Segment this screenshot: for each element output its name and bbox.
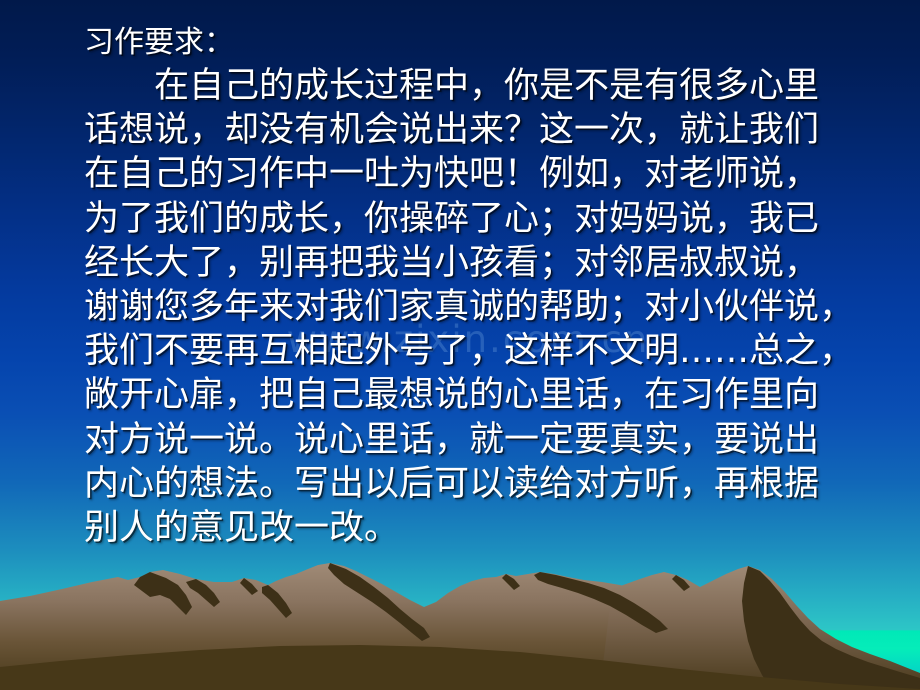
- body-line: 别人的意见改一改。: [84, 506, 868, 550]
- slide-text-content: 习作要求： 在自己的成长过程中，你是不是有很多心里 话想说，却没有机会说出来？这…: [84, 22, 868, 550]
- body-line: 敞开心扉，把自己最想说的心里话，在习作里向: [84, 373, 868, 417]
- mountain-shadow-9: [742, 566, 920, 690]
- body-line: 为了我们的成长，你操碎了心；对妈妈说，我已: [84, 197, 868, 241]
- body-line: 我们不要再互相起外号了，这样不文明……总之，: [84, 329, 868, 373]
- body-line: 话想说，却没有机会说出来？这一次，就让我们: [84, 108, 868, 152]
- body-line: 在自己的习作中一吐为快吧！例如，对老师说，: [84, 152, 868, 196]
- body-line: 经长大了，别再把我当小孩看；对邻居叔叔说，: [84, 241, 868, 285]
- mountain-silhouette-graphic: [0, 555, 920, 690]
- body-line: 谢谢您多年来对我们家真诚的帮助；对小伙伴说，: [84, 285, 868, 329]
- presentation-slide: www.zixin.com.cn 习作要求： 在自己的成长过程中，你是不是有很多…: [0, 0, 920, 690]
- body-line: 内心的想法。写出以后可以读给对方听，再根据: [84, 462, 868, 506]
- body-line: 对方说一说。说心里话，就一定要真实，要说出: [84, 418, 868, 462]
- body-line: 在自己的成长过程中，你是不是有很多心里: [84, 64, 868, 108]
- page-title: 习作要求：: [84, 22, 868, 64]
